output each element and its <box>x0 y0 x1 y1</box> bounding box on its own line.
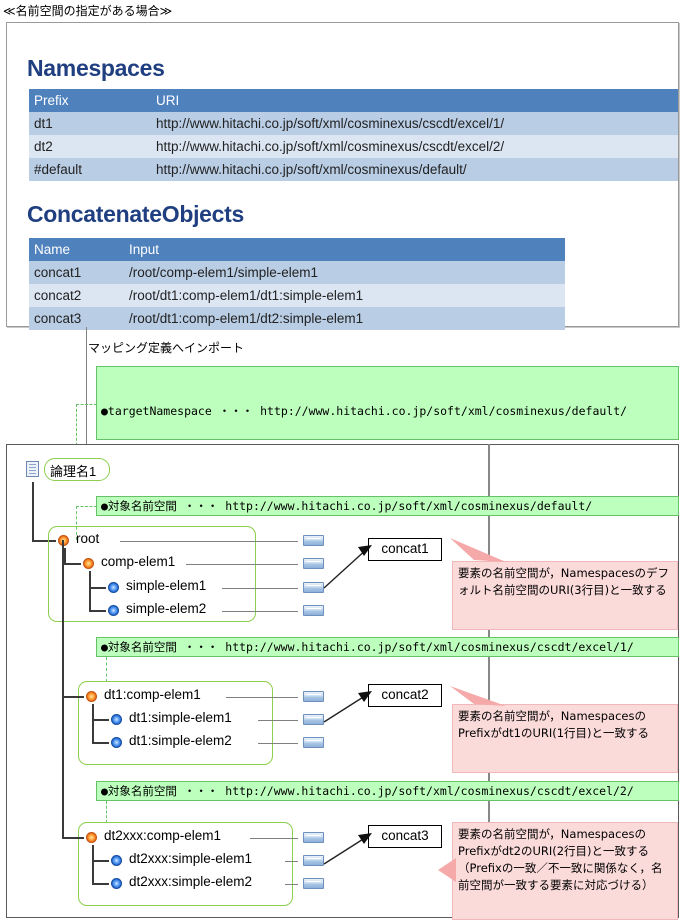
complex-element-icon <box>86 832 97 843</box>
column-header-input: Input <box>124 238 565 261</box>
table-row: #default http://www.hitachi.co.jp/soft/x… <box>29 158 678 181</box>
column-header-name: Name <box>29 238 124 261</box>
table-row: concat2 /root/dt1:comp-elem1/dt1:simple-… <box>29 284 565 307</box>
tree-node-label: simple-elem1 <box>126 578 206 593</box>
node-connector <box>258 720 298 721</box>
node-connector <box>258 743 298 744</box>
tree-node-label: dt1:simple-elem2 <box>129 733 232 748</box>
import-label: マッピング定義へインポート <box>88 339 244 356</box>
concat-box-1: concat1 <box>368 538 442 561</box>
tree-trunk-2 <box>62 540 64 698</box>
table-row: concat3 /root/dt1:comp-elem1/dt2:simple-… <box>29 307 565 330</box>
cell-uri: http://www.hitachi.co.jp/soft/xml/cosmin… <box>151 158 678 181</box>
simple-element-icon <box>111 878 122 889</box>
annotation-box-1: 要素の名前空間が，Namespacesのデフォルト名前空間のURI(3行目)と一… <box>452 561 678 630</box>
target-namespace-bar-3: ●対象名前空間 ・・・ http://www.hitachi.co.jp/sof… <box>96 781 679 801</box>
simple-element-icon <box>111 737 122 748</box>
complex-element-icon <box>83 558 94 569</box>
mapping-slab-icon <box>303 878 324 889</box>
simple-element-icon <box>111 855 122 866</box>
annotation2-leader <box>448 686 508 710</box>
tree-node-label: dt1:comp-elem1 <box>104 687 201 702</box>
ns-decl-leader-horizontal <box>76 404 97 405</box>
tree-node-label: dt2xxx:comp-elem1 <box>104 828 221 843</box>
table-header-row: Name Input <box>29 238 565 261</box>
column-header-uri: URI <box>151 89 678 112</box>
tree-node-label: root <box>76 531 99 546</box>
tree-branch-vertical <box>64 548 66 564</box>
node-connector <box>285 884 298 885</box>
cell-uri: http://www.hitachi.co.jp/soft/xml/cosmin… <box>151 135 678 158</box>
table-header-row: Prefix URI <box>29 89 678 112</box>
cell-prefix: dt2 <box>29 135 151 158</box>
simple-element-icon <box>108 605 119 616</box>
table-row: dt1 http://www.hitachi.co.jp/soft/xml/co… <box>29 112 678 135</box>
cell-input: /root/dt1:comp-elem1/dt1:simple-elem1 <box>124 284 565 307</box>
concat2-arrow <box>320 688 376 728</box>
tree-branch-vertical <box>92 845 94 861</box>
cell-prefix: dt1 <box>29 112 151 135</box>
node-connector <box>226 697 298 698</box>
document-icon <box>26 461 39 477</box>
namespace-declaration-box: ●targetNamespace ・・・ http://www.hitachi.… <box>96 366 679 440</box>
node-connector <box>120 541 298 542</box>
annotation-box-2: 要素の名前空間が，NamespacesのPrefixがdt1のURI(1行目)と… <box>452 704 678 773</box>
page-caption: ≪名前空間の指定がある場合≫ <box>3 2 172 19</box>
node-connector <box>222 611 298 612</box>
target-namespace-bar-1: ●対象名前空間 ・・・ http://www.hitachi.co.jp/sof… <box>96 496 679 516</box>
concat3-arrow <box>320 828 376 870</box>
node-connector <box>222 588 298 589</box>
namespaces-table: Prefix URI dt1 http://www.hitachi.co.jp/… <box>29 89 678 181</box>
cell-name: concat2 <box>29 284 124 307</box>
tree-branch-horizontal <box>62 837 84 839</box>
annotation3-leader <box>436 856 458 886</box>
tree-branch-horizontal <box>92 883 109 885</box>
tree-branch-horizontal <box>92 742 109 744</box>
cell-name: concat3 <box>29 307 124 330</box>
tree-branch-vertical <box>92 861 94 884</box>
tree-branch-horizontal <box>62 696 84 698</box>
cell-prefix: #default <box>29 158 151 181</box>
annotation1-leader <box>448 538 508 566</box>
cell-input: /root/comp-elem1/simple-elem1 <box>124 261 565 284</box>
tree-trunk <box>32 482 34 542</box>
target-namespace-bar-2: ●対象名前空間 ・・・ http://www.hitachi.co.jp/sof… <box>96 637 679 657</box>
column-header-prefix: Prefix <box>29 89 151 112</box>
simple-element-icon <box>111 714 122 725</box>
table-row: dt2 http://www.hitachi.co.jp/soft/xml/co… <box>29 135 678 158</box>
concat-box-3: concat3 <box>368 825 442 848</box>
tree-branch-horizontal <box>92 860 109 862</box>
nsbar2-leader-vertical <box>106 657 107 682</box>
concat-box-2: concat2 <box>368 684 442 707</box>
tree-node-label: dt2xxx:simple-elem1 <box>129 851 252 866</box>
cell-uri: http://www.hitachi.co.jp/soft/xml/cosmin… <box>151 112 678 135</box>
tree-branch-vertical <box>92 704 94 720</box>
cell-name: concat1 <box>29 261 124 284</box>
node-connector <box>250 838 298 839</box>
cell-input: /root/dt1:comp-elem1/dt2:simple-elem1 <box>124 307 565 330</box>
nsbar1-leader-horizontal <box>76 506 97 507</box>
tree-node-label: comp-elem1 <box>101 554 175 569</box>
ns-decl-line: ●targetNamespace ・・・ http://www.hitachi.… <box>101 403 674 420</box>
tree-branch-horizontal <box>89 610 106 612</box>
simple-element-icon <box>108 582 119 593</box>
concatenate-objects-title: ConcatenateObjects <box>27 201 244 228</box>
complex-element-icon <box>86 691 97 702</box>
mapping-slab-icon <box>303 737 324 748</box>
tree-branch-vertical <box>89 588 91 611</box>
nsbar3-leader-vertical <box>106 801 107 823</box>
logical-name-label: 論理名1 <box>50 461 96 480</box>
tree-node-label: dt2xxx:simple-elem2 <box>129 874 252 889</box>
tree-trunk-3 <box>62 696 64 838</box>
node-connector <box>186 564 298 565</box>
definition-panel: Namespaces Prefix URI dt1 http://www.hit… <box>6 22 679 327</box>
concat1-arrow <box>320 540 376 592</box>
tree-branch-horizontal <box>64 563 81 565</box>
mapping-slab-icon <box>303 605 324 616</box>
table-row: concat1 /root/comp-elem1/simple-elem1 <box>29 261 565 284</box>
node-connector <box>285 861 298 862</box>
namespaces-title: Namespaces <box>27 55 165 82</box>
concatenate-objects-table: Name Input concat1 /root/comp-elem1/simp… <box>29 238 565 330</box>
tree-branch-vertical <box>92 720 94 743</box>
panel-to-tree-connector <box>86 327 87 457</box>
tree-node-label: dt1:simple-elem1 <box>129 710 232 725</box>
annotation-box-3: 要素の名前空間が，NamespacesのPrefixがdt2のURI(2行目)と… <box>452 822 678 920</box>
tree-node-label: simple-elem2 <box>126 601 206 616</box>
tree-branch-horizontal <box>89 587 106 589</box>
tree-branch-horizontal <box>92 719 109 721</box>
tree-branch-vertical <box>89 571 91 588</box>
